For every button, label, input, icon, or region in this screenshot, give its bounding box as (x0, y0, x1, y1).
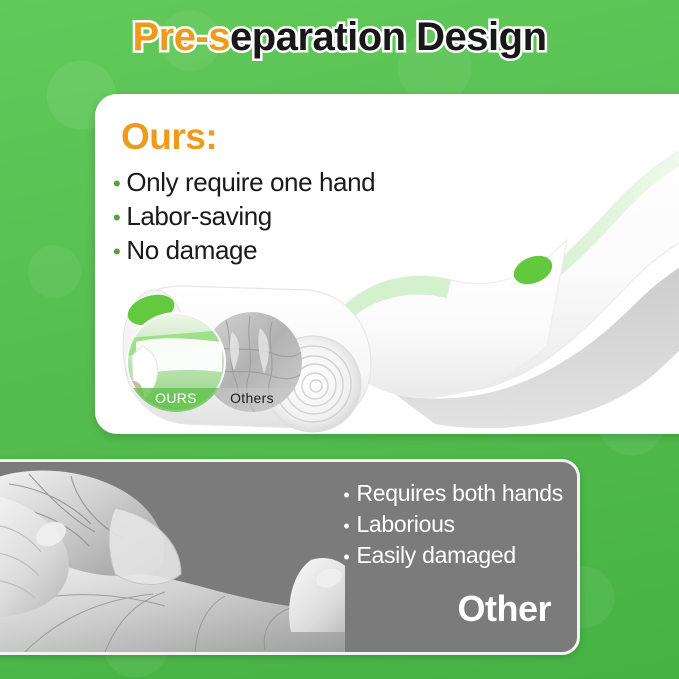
list-item-label: Easily damaged (356, 540, 515, 571)
page-title-main: eparation Design (230, 15, 547, 59)
other-title: Other (457, 588, 551, 630)
list-item-label: Laborious (356, 509, 454, 540)
thumbnail-ours-label: OURS (126, 390, 226, 406)
bullet-icon: • (113, 241, 120, 263)
bullet-icon: • (113, 207, 120, 229)
list-item-label: Labor-saving (126, 200, 272, 234)
other-drawback-list: •Requires both hands •Laborious •Easily … (343, 478, 563, 570)
product-infographic-poster: Pre-separation Design (0, 0, 679, 679)
bullet-icon: • (113, 173, 120, 195)
list-item-label: Requires both hands (356, 478, 563, 509)
list-item: •Labor-saving (113, 200, 375, 234)
ours-card: Ours: •Only require one hand •Labor-savi… (95, 94, 679, 434)
list-item: •Easily damaged (343, 540, 563, 571)
thumbnail-ours: OURS (126, 312, 226, 412)
list-item-label: No damage (126, 234, 257, 268)
bullet-icon: • (343, 548, 349, 566)
bullet-icon: • (343, 517, 349, 535)
hands-tearing-bag-photo (0, 462, 345, 652)
list-item: •Only require one hand (113, 166, 375, 200)
list-item: •No damage (113, 234, 375, 268)
list-item: •Requires both hands (343, 478, 563, 509)
bullet-icon: • (343, 486, 349, 504)
comparison-thumbnails: OURS (126, 312, 306, 414)
ours-title: Ours: (121, 116, 217, 158)
page-title: Pre-separation Design (0, 16, 679, 58)
page-title-accent: Pre-s (132, 15, 230, 59)
list-item-label: Only require one hand (126, 166, 375, 200)
list-item: •Laborious (343, 509, 563, 540)
ours-benefit-list: •Only require one hand •Labor-saving •No… (113, 166, 375, 267)
other-card: •Requires both hands •Laborious •Easily … (0, 459, 580, 655)
